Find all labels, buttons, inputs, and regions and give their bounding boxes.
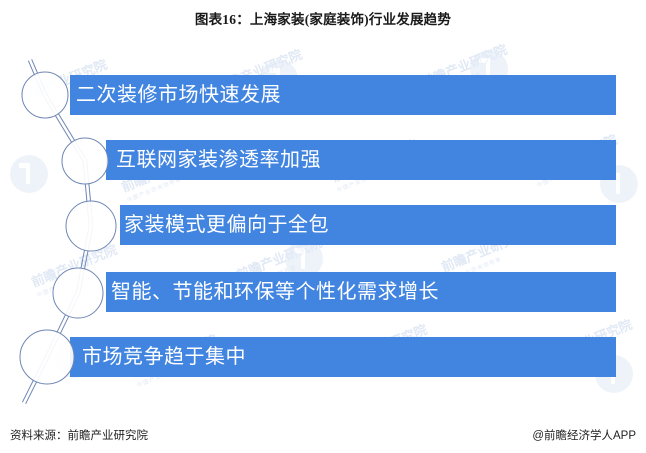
chart-canvas: 图表16：上海家装(家庭装饰)行业发展趋势 前瞻产业研究院中国产业咨询领导者前瞻…: [0, 0, 646, 453]
chain-node-circle[interactable]: [53, 268, 103, 318]
chain-node-circle[interactable]: [22, 72, 68, 118]
source-note: 资料来源：前瞻产业研究院: [10, 427, 148, 443]
chain-node-circle[interactable]: [20, 330, 74, 384]
chain-node-circle[interactable]: [62, 138, 108, 184]
brand-note: @前瞻经济学人APP: [532, 427, 636, 443]
node-chain-diagram: [0, 0, 646, 453]
chain-node-circle[interactable]: [66, 201, 116, 251]
